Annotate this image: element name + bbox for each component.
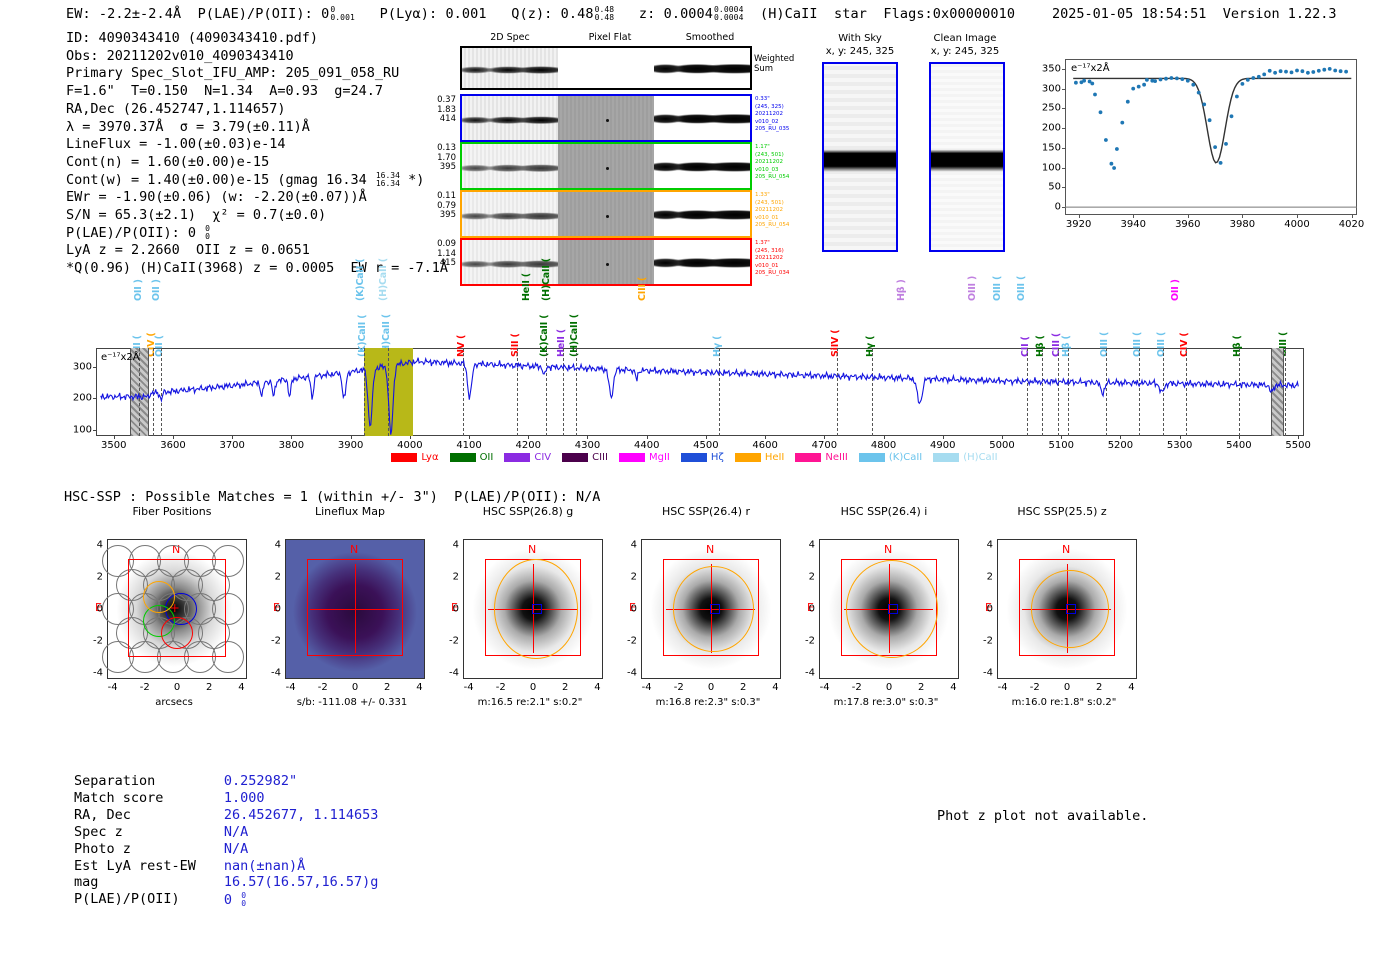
table-key: Spec z	[74, 825, 222, 840]
spectrum-xtickmark	[291, 436, 292, 439]
legend-item: Lyα	[391, 452, 438, 463]
north-marker: N	[884, 543, 892, 556]
emission-line-label: (K)CaII (	[355, 259, 366, 301]
north-marker: N	[706, 543, 714, 556]
spectrum-xtick: 4400	[634, 440, 659, 451]
table-row: Separation0.252982"	[74, 774, 378, 789]
spectrum-xtickmark	[1002, 436, 1003, 439]
table-row: mag16.57(16.57,16.57)g	[74, 875, 378, 890]
table-key: Photo z	[74, 842, 222, 857]
spectrum-xtickmark	[173, 436, 174, 439]
north-marker: N	[1062, 543, 1070, 556]
table-row: P(LAE)/P(OII)0 00	[74, 892, 378, 908]
hsc-panel-title: HSC SSP(26.8) g	[428, 505, 628, 518]
emission-line-label: OIII )	[967, 276, 978, 301]
hsc-ytick: 0	[793, 604, 815, 615]
legend-label: NeIII	[825, 452, 847, 463]
spectrum-xtick: 5500	[1285, 440, 1310, 451]
hsc-ytick: -4	[437, 668, 459, 679]
legend-item: NeIII	[795, 452, 847, 463]
hsc-xtick: 2	[206, 682, 212, 693]
hsc-ytick: -2	[81, 636, 103, 647]
spectrum-xtick: 4100	[456, 440, 481, 451]
legend-item: Hζ	[681, 452, 724, 463]
hsc-xtick: -2	[496, 682, 506, 693]
hsc-xtick: 4	[772, 682, 778, 693]
hsc-ytick: 0	[971, 604, 993, 615]
crosshair-horizontal	[310, 609, 400, 610]
spectrum-xtick: 3700	[219, 440, 244, 451]
hsc-ytick: 4	[793, 539, 815, 550]
hsc-xtick: -2	[674, 682, 684, 693]
legend-swatch	[391, 453, 417, 462]
hsc-ytick: 4	[81, 539, 103, 550]
spectrum-xtickmark	[587, 436, 588, 439]
spectrum-xtickmark	[706, 436, 707, 439]
table-value: N/A	[224, 842, 378, 857]
spectrum-xtick: 4600	[752, 440, 777, 451]
full-spectrum-plot: e⁻¹⁷x2Å 35003600370038003900400041004200…	[0, 0, 1400, 470]
table-value: nan(±nan)Å	[224, 859, 378, 874]
hsc-ytick: 4	[259, 539, 281, 550]
legend-label: Hζ	[711, 452, 724, 463]
blue-box	[888, 604, 898, 614]
spectrum-xtickmark	[1239, 436, 1240, 439]
hsc-xtick: 4	[416, 682, 422, 693]
hsc-xtick: -4	[642, 682, 652, 693]
hsc-xtick: -2	[318, 682, 328, 693]
table-row: RA, Dec26.452677, 1.114653	[74, 808, 378, 823]
hsc-ytick: -2	[971, 636, 993, 647]
hsc-ytick: -4	[615, 668, 637, 679]
blue-box	[532, 604, 542, 614]
table-key: Est LyA rest-EW	[74, 859, 222, 874]
legend-item: (K)CaII	[859, 452, 922, 463]
table-value: N/A	[224, 825, 378, 840]
legend-item: MgII	[619, 452, 670, 463]
spectrum-xtick: 4300	[575, 440, 600, 451]
hsc-panel-title: Lineflux Map	[250, 505, 450, 518]
hsc-panel-title: HSC SSP(25.5) z	[962, 505, 1162, 518]
spectrum-xtickmark	[943, 436, 944, 439]
emission-line-label: Hβ )	[896, 279, 907, 301]
hsc-xtick: 2	[918, 682, 924, 693]
spectrum-xtick: 3500	[101, 440, 126, 451]
spectrum-xtickmark	[351, 436, 352, 439]
hsc-cutout-row: Fiber PositionsNE+-4-4-2-2002244arcsecsL…	[0, 505, 1400, 720]
spectrum-xtick: 5400	[1226, 440, 1251, 451]
emission-line-label: OIII (	[1016, 276, 1027, 301]
hsc-xtick: 2	[562, 682, 568, 693]
hsc-ytick: 2	[437, 571, 459, 582]
spectrum-xtickmark	[114, 436, 115, 439]
hsc-xtick: 2	[1096, 682, 1102, 693]
table-row: Spec zN/A	[74, 825, 378, 840]
spectrum-xtick: 5300	[1167, 440, 1192, 451]
hsc-xtick: 4	[594, 682, 600, 693]
table-key: mag	[74, 875, 222, 890]
hsc-ytick: -4	[259, 668, 281, 679]
spectrum-xtickmark	[528, 436, 529, 439]
hsc-ytick: -4	[971, 668, 993, 679]
spectrum-xtick: 4500	[693, 440, 718, 451]
spectrum-xtickmark	[410, 436, 411, 439]
hsc-ytick: 2	[81, 571, 103, 582]
emission-line-label: HeII (	[521, 273, 532, 301]
hsc-ytick: -4	[81, 668, 103, 679]
spectrum-xtick: 3800	[279, 440, 304, 451]
north-marker: N	[350, 543, 358, 556]
table-value: 16.57(16.57,16.57)g	[224, 875, 378, 890]
hsc-xtick: 4	[1128, 682, 1134, 693]
spectrum-xtickmark	[1120, 436, 1121, 439]
spectrum-ytick: 200	[62, 393, 92, 404]
hsc-ytick: 2	[615, 571, 637, 582]
hsc-ytick: 4	[971, 539, 993, 550]
table-row: Est LyA rest-EWnan(±nan)Å	[74, 859, 378, 874]
legend-label: OII	[480, 452, 494, 463]
spectrum-xtick: 4000	[397, 440, 422, 451]
hsc-ytick: 2	[259, 571, 281, 582]
spectrum-xtickmark	[1298, 436, 1299, 439]
hsc-xtick: -4	[820, 682, 830, 693]
table-key: P(LAE)/P(OII)	[74, 892, 222, 908]
legend-item: CIII	[562, 452, 608, 463]
hsc-xtick: 0	[886, 682, 892, 693]
spectrum-xtickmark	[765, 436, 766, 439]
hsc-ytick: -2	[793, 636, 815, 647]
legend-swatch	[735, 453, 761, 462]
hsc-ytick: 2	[971, 571, 993, 582]
legend-item: HeII	[735, 452, 785, 463]
photz-message: Phot z plot not available.	[937, 808, 1148, 824]
hsc-xtick: 4	[238, 682, 244, 693]
legend-label: MgII	[649, 452, 670, 463]
hsc-xtick: -2	[852, 682, 862, 693]
hsc-ytick: 0	[259, 604, 281, 615]
hsc-ytick: 0	[615, 604, 637, 615]
spectrum-legend: LyαOIICIVCIIIMgIIHζHeIINeIII(K)CaII(H)Ca…	[96, 452, 1304, 463]
hsc-xtick: -2	[1030, 682, 1040, 693]
spectrum-xtick: 4800	[871, 440, 896, 451]
spectrum-xtick: 4700	[812, 440, 837, 451]
legend-label: CIII	[592, 452, 608, 463]
legend-label: Lyα	[421, 452, 438, 463]
emission-line-label: OIII (	[992, 276, 1003, 301]
legend-swatch	[933, 453, 959, 462]
spectrum-xtickmark	[884, 436, 885, 439]
hsc-xtick: 4	[950, 682, 956, 693]
legend-item: CIV	[504, 452, 551, 463]
spectrum-xtickmark	[1180, 436, 1181, 439]
center-cross-marker: +	[170, 601, 180, 615]
hsc-xtick: 0	[174, 682, 180, 693]
legend-swatch	[450, 453, 476, 462]
hsc-ytick: 2	[793, 571, 815, 582]
table-value: 0 00	[224, 892, 378, 908]
hsc-ytick: 4	[437, 539, 459, 550]
hsc-ytick: -4	[793, 668, 815, 679]
legend-label: CIV	[534, 452, 551, 463]
emission-line-label: (H)CaII (	[378, 258, 389, 301]
emission-line-label: (H)CaII (	[541, 258, 552, 301]
spectrum-xtick: 5000	[989, 440, 1014, 451]
hsc-xtick: -4	[286, 682, 296, 693]
hsc-ytick: -2	[259, 636, 281, 647]
legend-label: HeII	[765, 452, 785, 463]
legend-swatch	[562, 453, 588, 462]
legend-swatch	[619, 453, 645, 462]
hsc-panel-title: Fiber Positions	[72, 505, 272, 518]
spectrum-ytick: 300	[62, 361, 92, 372]
hsc-xtick: 2	[740, 682, 746, 693]
spectrum-xtick: 4900	[930, 440, 955, 451]
table-value: 1.000	[224, 791, 378, 806]
spectrum-ytick: 100	[62, 424, 92, 435]
spectrum-xtickmark	[647, 436, 648, 439]
table-value: 0.252982"	[224, 774, 378, 789]
table-row: Match score1.000	[74, 791, 378, 806]
hsc-ytick: 0	[437, 604, 459, 615]
hsc-ytick: -2	[615, 636, 637, 647]
spectrum-xtickmark	[824, 436, 825, 439]
hsc-xtick: 2	[384, 682, 390, 693]
legend-swatch	[681, 453, 707, 462]
legend-swatch	[504, 453, 530, 462]
legend-item: (H)CaII	[933, 452, 997, 463]
hsc-ytick: 0	[81, 604, 103, 615]
emission-line-label: OII )	[1170, 279, 1181, 301]
legend-swatch	[795, 453, 821, 462]
hsc-panel-caption: m:16.0 re:1.8" s:0.2"	[954, 697, 1174, 708]
spectrum-xtickmark	[232, 436, 233, 439]
hsc-xtick: 0	[1064, 682, 1070, 693]
table-row: Photo zN/A	[74, 842, 378, 857]
legend-item: OII	[450, 452, 494, 463]
spectrum-xtickmark	[1061, 436, 1062, 439]
hsc-xtick: -4	[998, 682, 1008, 693]
emission-line-label: CIII (	[637, 277, 648, 301]
hsc-xtick: 0	[530, 682, 536, 693]
hsc-section-header: HSC-SSP : Possible Matches = 1 (within +…	[64, 489, 600, 505]
legend-label: (H)CaII	[963, 452, 997, 463]
legend-label: (K)CaII	[889, 452, 922, 463]
hsc-xtick: 0	[352, 682, 358, 693]
hsc-xtick: -4	[108, 682, 118, 693]
hsc-xtick: -2	[140, 682, 150, 693]
emission-line-label: OII )	[151, 279, 162, 301]
table-key: Match score	[74, 791, 222, 806]
hsc-panel-title: HSC SSP(26.4) i	[784, 505, 984, 518]
hsc-ytick: 4	[615, 539, 637, 550]
spectrum-xtickmark	[469, 436, 470, 439]
spectrum-xtick: 4200	[516, 440, 541, 451]
match-info-table: Separation0.252982"Match score1.000RA, D…	[72, 772, 380, 910]
blue-box	[710, 604, 720, 614]
spectrum-xtick: 5200	[1108, 440, 1133, 451]
table-key: Separation	[74, 774, 222, 789]
hsc-ytick: -2	[437, 636, 459, 647]
blue-box	[1066, 604, 1076, 614]
hsc-xtick: -4	[464, 682, 474, 693]
table-value: 26.452677, 1.114653	[224, 808, 378, 823]
spectrum-xtick: 3900	[338, 440, 363, 451]
spectrum-xtick: 5100	[1048, 440, 1073, 451]
north-marker: N	[528, 543, 536, 556]
spectrum-xtick: 3600	[160, 440, 185, 451]
table-key: RA, Dec	[74, 808, 222, 823]
spectrum-annotation: e⁻¹⁷x2Å	[101, 352, 140, 363]
hsc-panel-title: HSC SSP(26.4) r	[606, 505, 806, 518]
legend-swatch	[859, 453, 885, 462]
emission-line-label: OII )	[133, 279, 144, 301]
hsc-xtick: 0	[708, 682, 714, 693]
